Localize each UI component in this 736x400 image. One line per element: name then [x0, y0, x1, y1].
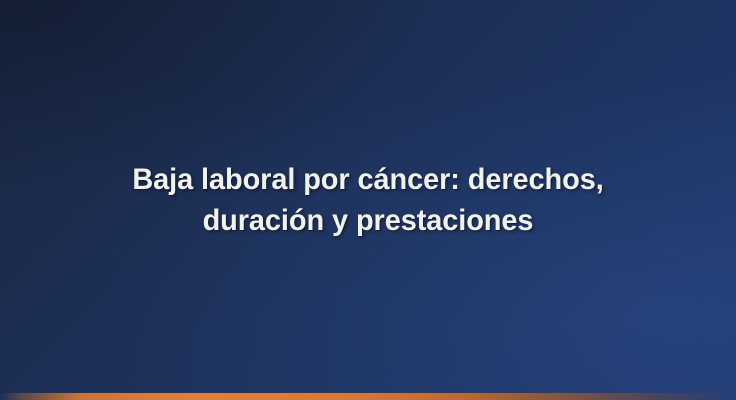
- title-block: Baja laboral por cáncer: derechos, durac…: [0, 0, 736, 400]
- page-title: Baja laboral por cáncer: derechos, durac…: [57, 159, 678, 241]
- article-cover-card: Baja laboral por cáncer: derechos, durac…: [0, 0, 736, 400]
- bottom-accent-bar: [0, 393, 736, 400]
